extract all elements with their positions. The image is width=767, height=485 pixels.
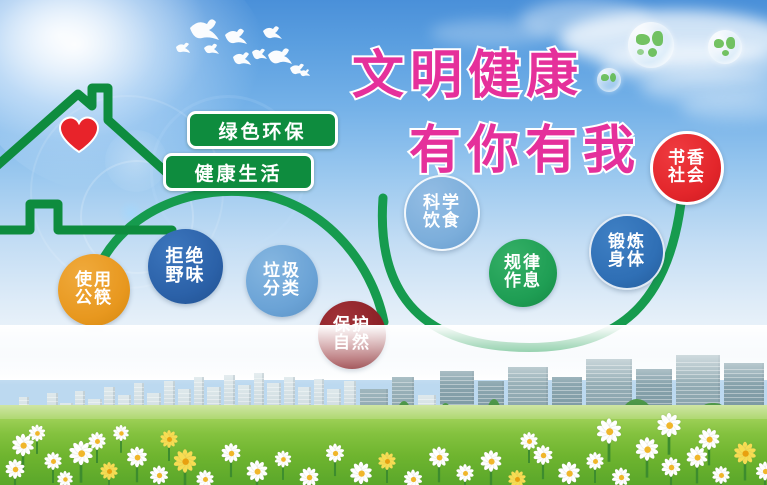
poster-headline-line2: 有你有我 (409, 108, 641, 183)
circle-line2: 饮食 (423, 213, 461, 231)
heart-icon (60, 118, 98, 152)
circle-line2: 分类 (263, 281, 301, 299)
circle-line2: 作息 (504, 273, 542, 291)
horizon-haze (0, 325, 767, 385)
circle-exercise-body[interactable]: 锻炼 身体 (589, 214, 665, 290)
circle-line2: 公筷 (75, 290, 113, 308)
circle-waste-sorting[interactable]: 垃圾 分类 (246, 245, 318, 317)
poster-canvas: 文明健康 有你有我 绿色环保 健康生活 使用 公筷 拒绝 野味 垃圾 分类 保护… (0, 0, 767, 485)
badge-label: 绿色环保 (218, 117, 306, 144)
badge-green-environment[interactable]: 绿色环保 (187, 111, 338, 149)
badge-label: 健康生活 (194, 159, 282, 186)
badge-healthy-life[interactable]: 健康生活 (163, 153, 314, 191)
poster-headline-line1: 文明健康 (352, 33, 584, 108)
circle-line2: 身体 (608, 252, 646, 270)
circle-scholarly-society[interactable]: 书香 社会 (650, 131, 724, 205)
circle-use-serving-chopsticks[interactable]: 使用 公筷 (58, 254, 130, 326)
circle-line2: 野味 (166, 267, 206, 286)
circle-line2: 社会 (668, 168, 706, 186)
circle-refuse-wild-game[interactable]: 拒绝 野味 (148, 229, 223, 304)
circle-scientific-diet[interactable]: 科学 饮食 (404, 175, 480, 251)
circle-line1: 拒绝 (166, 248, 206, 267)
circle-regular-routine[interactable]: 规律 作息 (489, 239, 557, 307)
